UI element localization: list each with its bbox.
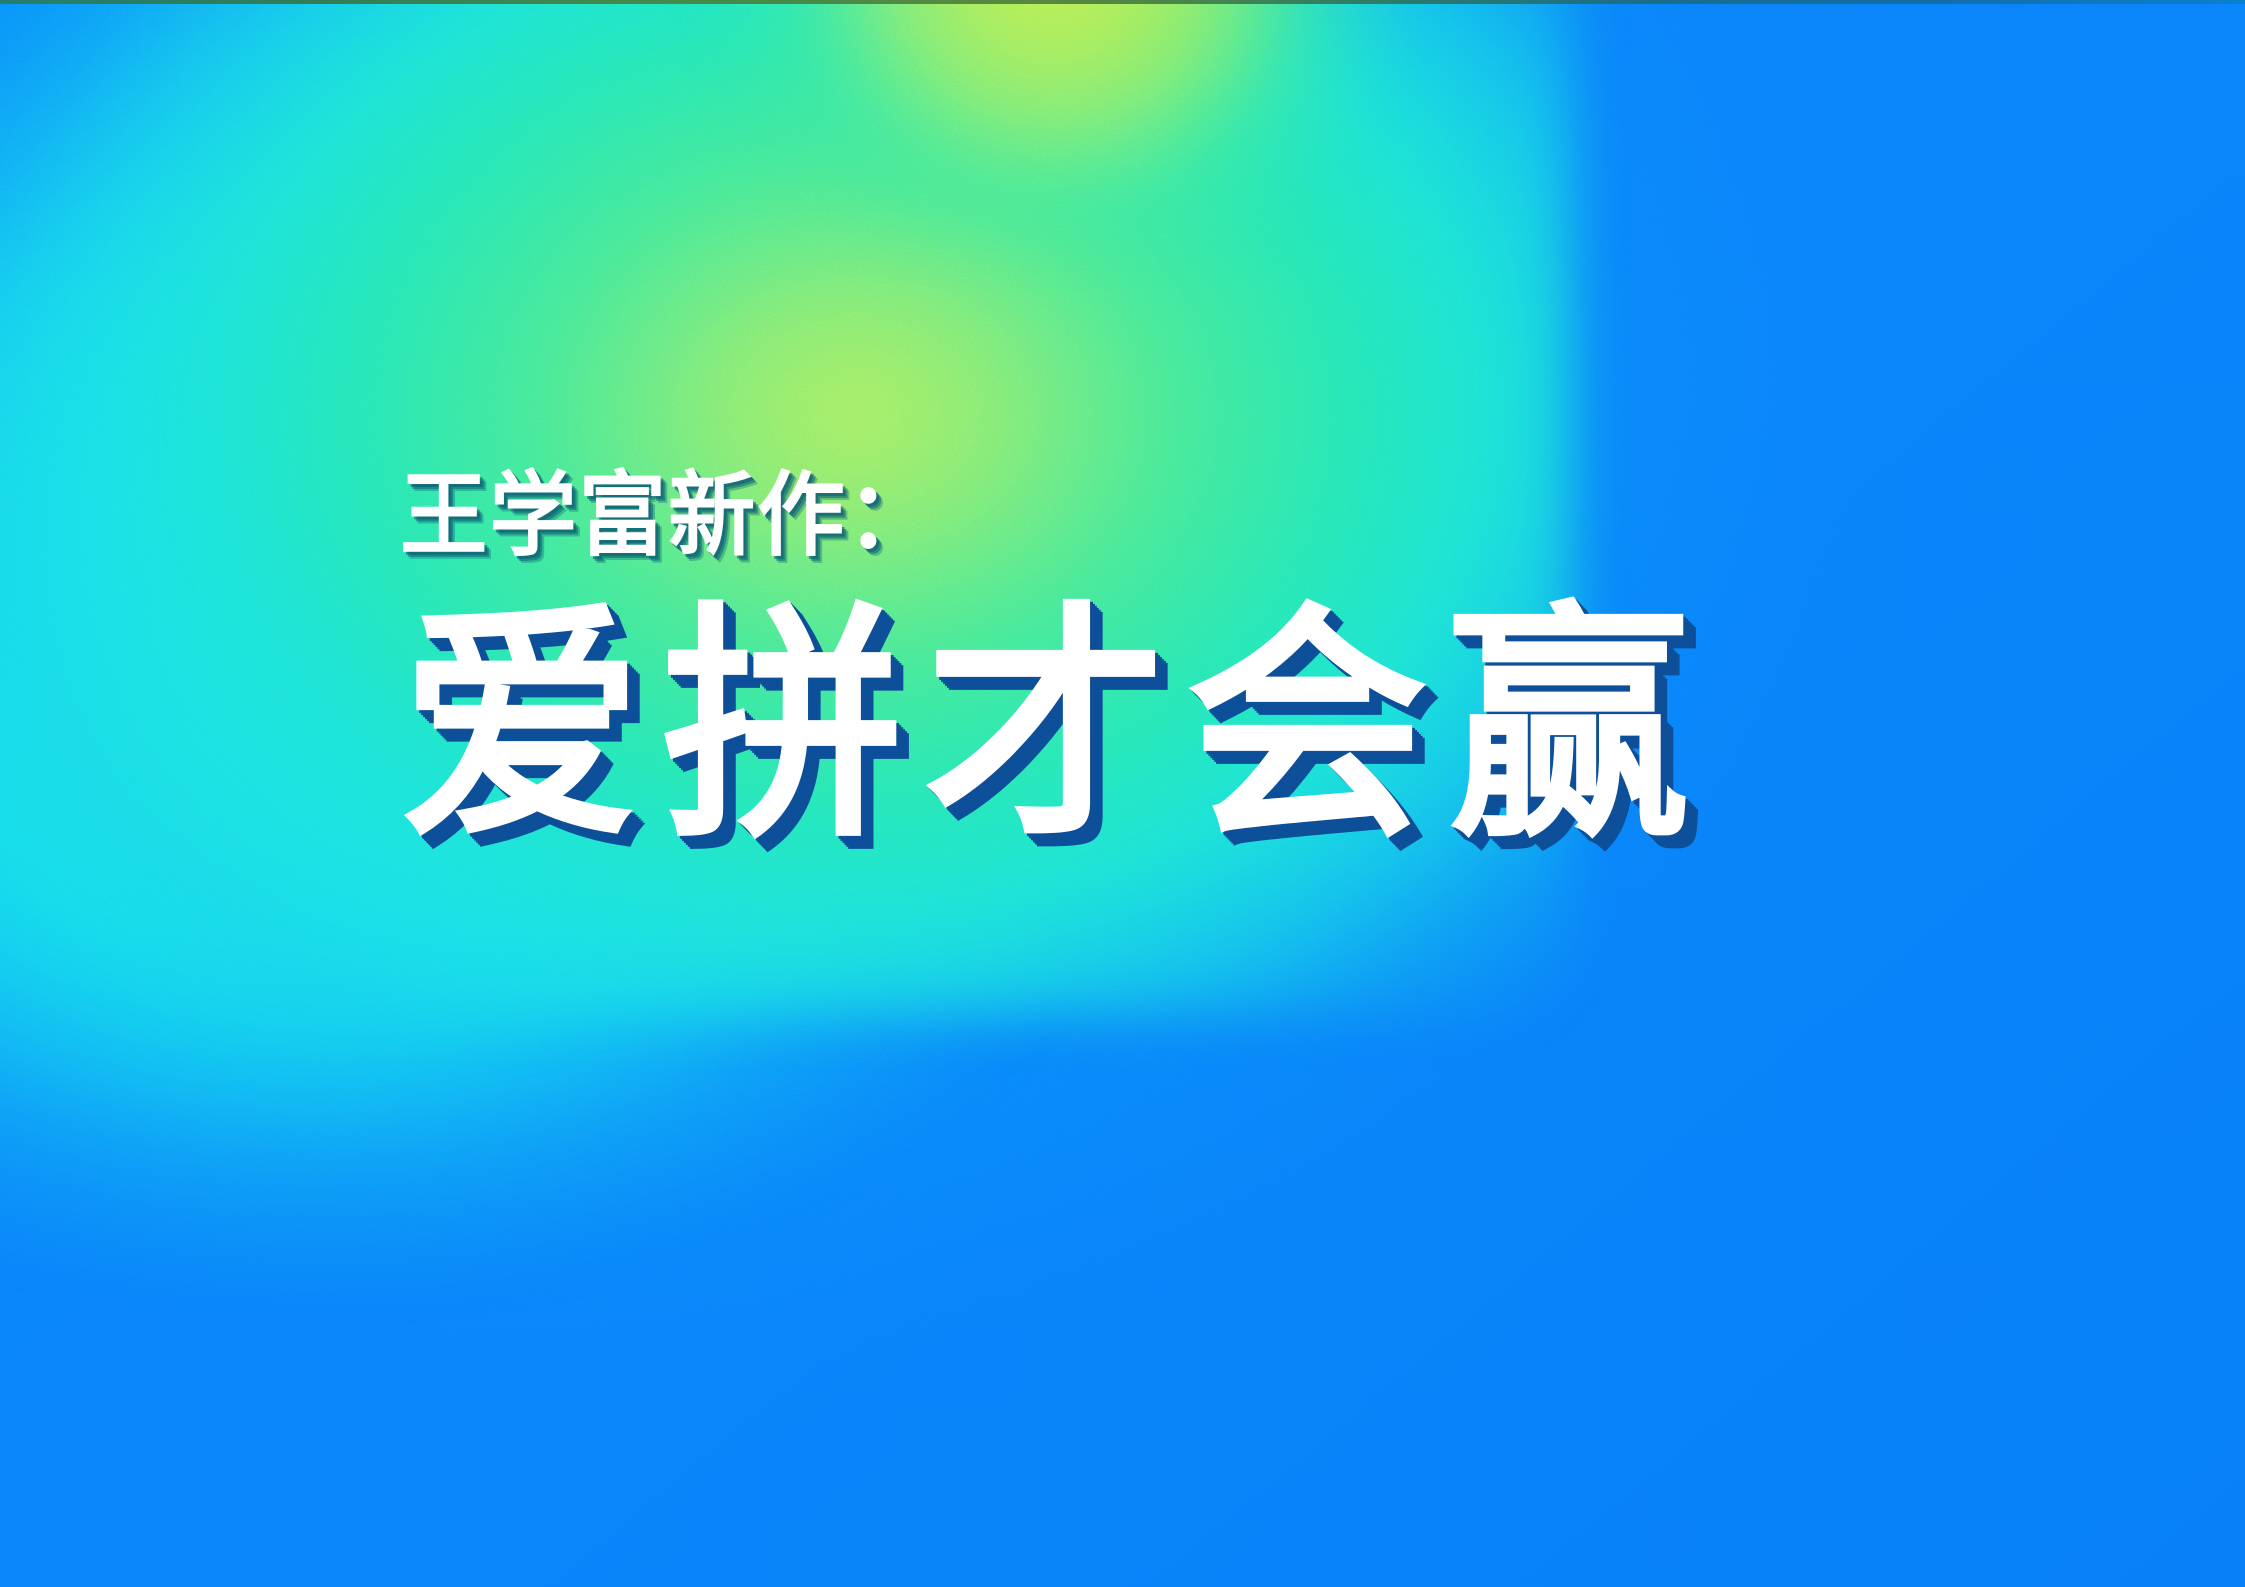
poster-subtitle: 王学富新作：: [400, 470, 1683, 562]
poster-canvas: 王学富新作： 爱拼才会赢: [0, 0, 2245, 1587]
background-yellow-green-blob: [674, 0, 1437, 222]
poster-text-block: 王学富新作： 爱拼才会赢: [400, 470, 1750, 849]
top-edge-artifact-strip: [0, 0, 2245, 4]
poster-headline: 爱拼才会赢: [400, 604, 1710, 849]
